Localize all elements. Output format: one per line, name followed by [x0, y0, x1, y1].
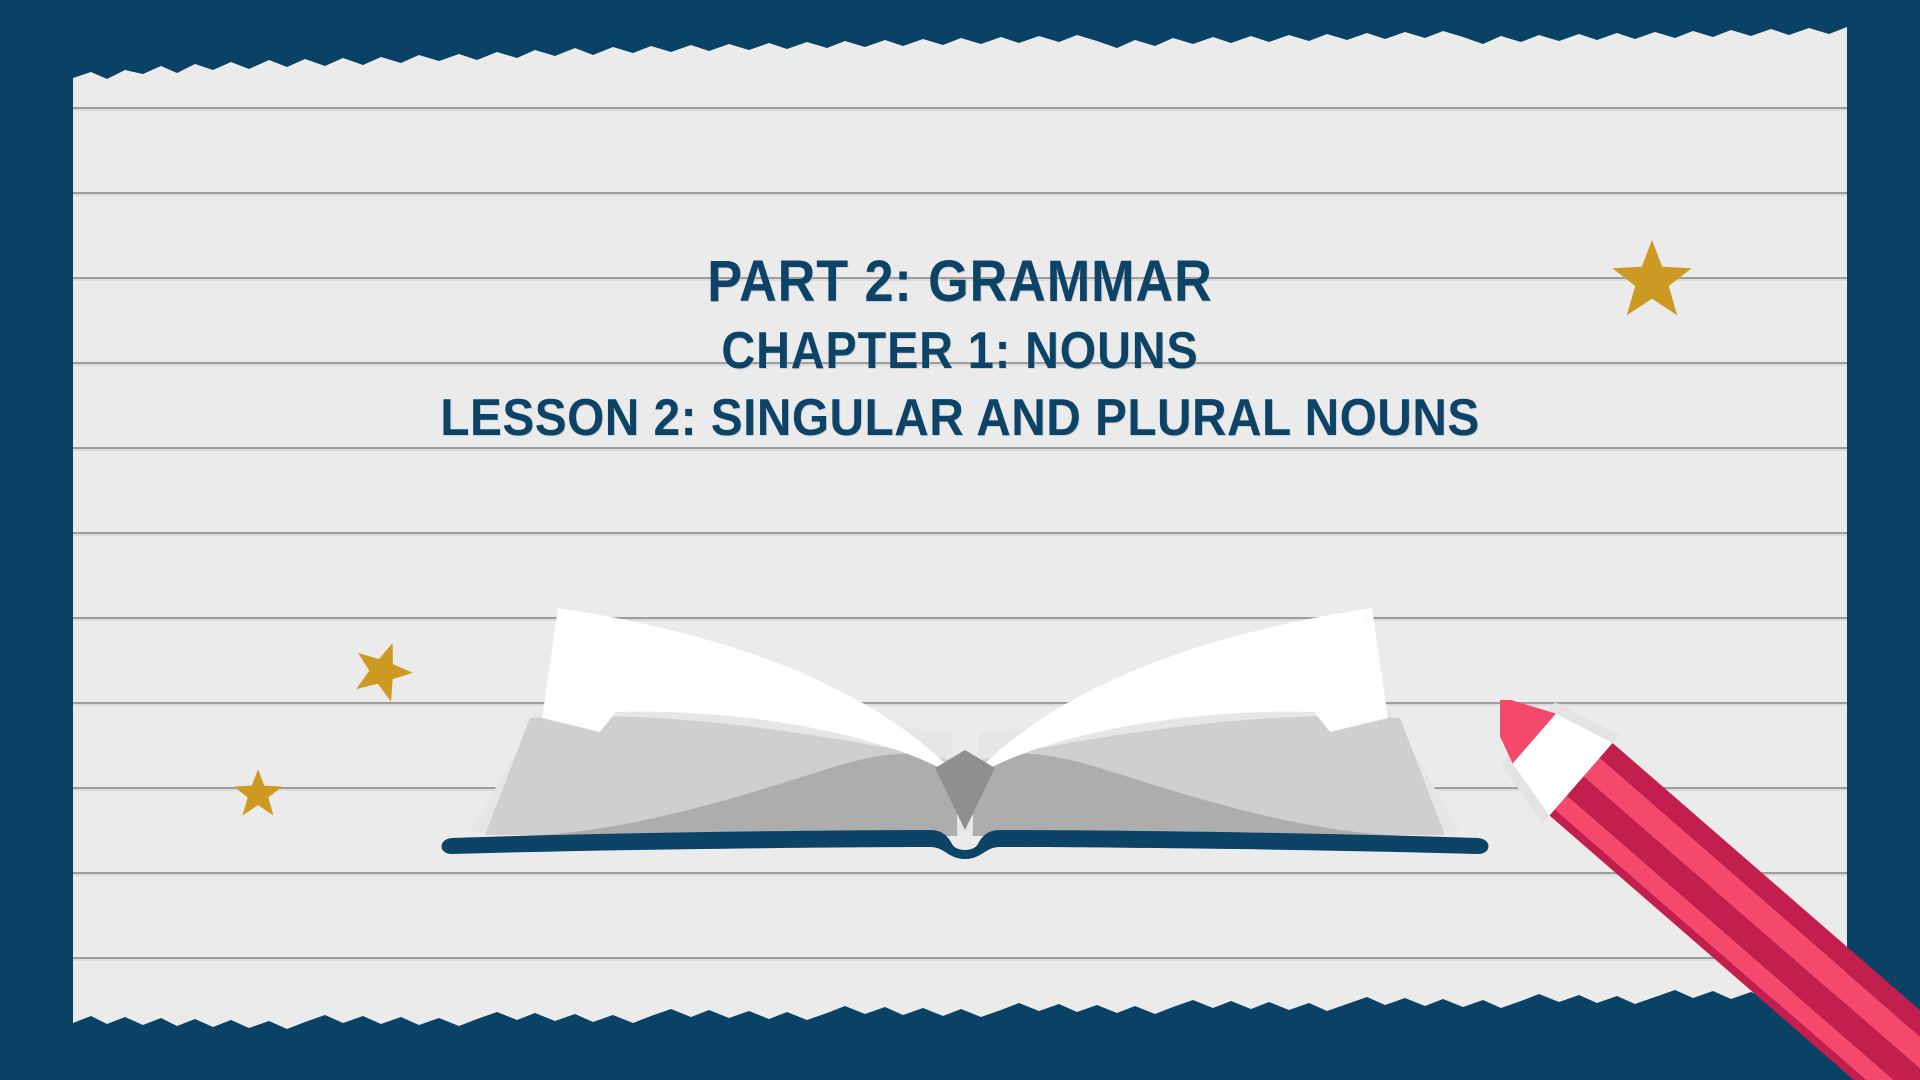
- lesson-title: LESSON 2: SINGULAR AND PLURAL NOUNS: [77, 392, 1843, 445]
- star-left-lower: [232, 768, 284, 817]
- pencil-body-dark-mid: [1567, 776, 1920, 1080]
- title-block: PART 2: GRAMMAR CHAPTER 1: NOUNS LESSON …: [0, 252, 1920, 445]
- book-binding: [442, 830, 1489, 859]
- star-shape: [234, 769, 282, 815]
- open-book-illustration: [430, 600, 1500, 860]
- chapter-title: CHAPTER 1: NOUNS: [96, 325, 1824, 378]
- part-title: PART 2: GRAMMAR: [96, 252, 1824, 311]
- pencil-icon: [1500, 700, 1920, 1080]
- slide-canvas: PART 2: GRAMMAR CHAPTER 1: NOUNS LESSON …: [0, 0, 1920, 1080]
